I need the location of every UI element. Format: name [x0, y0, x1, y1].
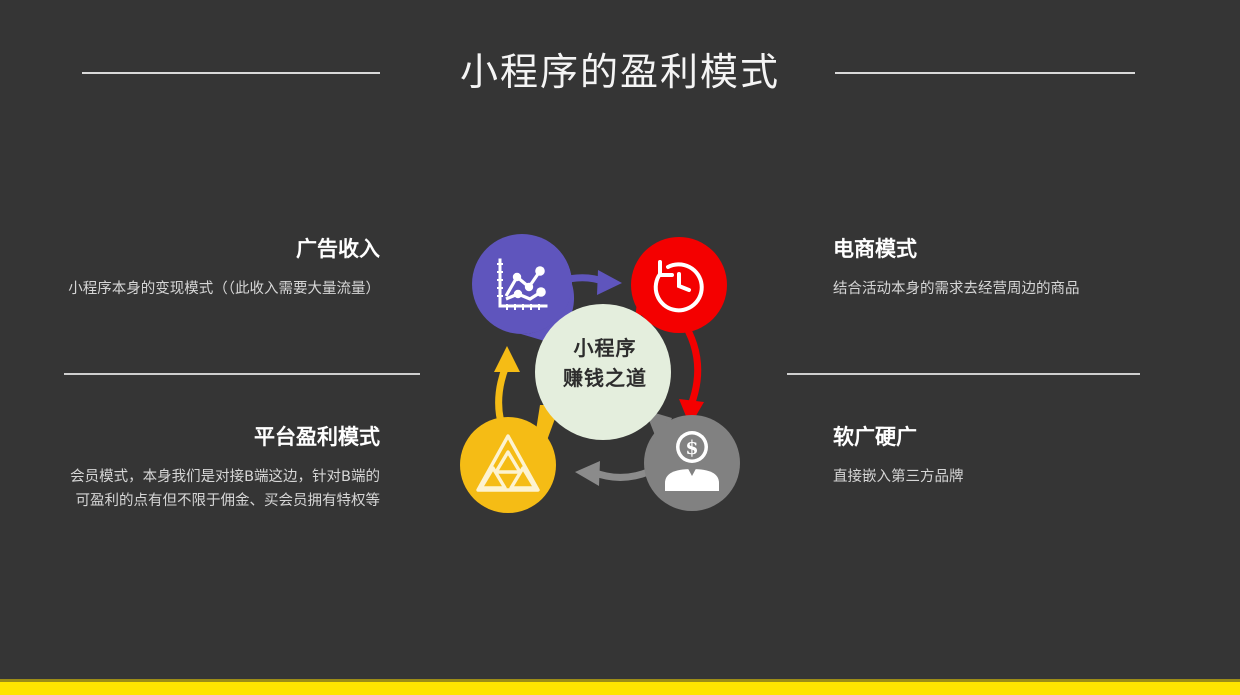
- block-ecommerce: 电商模式 结合活动本身的需求去经营周边的商品: [833, 235, 1163, 301]
- arrow-red: [679, 320, 704, 426]
- block-ecommerce-body: 结合活动本身的需求去经营周边的商品: [833, 277, 1163, 301]
- bubble-platform[interactable]: [460, 405, 560, 513]
- divider-right: [787, 373, 1140, 375]
- block-softad: 软广硬广 直接嵌入第三方品牌: [833, 423, 1163, 489]
- block-softad-heading: 软广硬广: [833, 423, 1163, 451]
- divider-left: [64, 373, 420, 375]
- block-platform-heading: 平台盈利模式: [60, 423, 380, 451]
- center-circle: [535, 304, 671, 440]
- svg-text:$: $: [685, 437, 698, 459]
- block-ecommerce-heading: 电商模式: [833, 235, 1163, 263]
- bottom-accent-bar: [0, 682, 1240, 695]
- block-advertising: 广告收入 小程序本身的变现模式（（此收入需要大量流量）: [60, 235, 380, 301]
- cycle-diagram: $: [430, 200, 800, 550]
- title-row: 小程序的盈利模式: [0, 44, 1240, 102]
- block-softad-body: 直接嵌入第三方品牌: [833, 465, 1163, 489]
- block-advertising-heading: 广告收入: [60, 235, 380, 263]
- title-rule-right: [835, 72, 1135, 74]
- block-advertising-body: 小程序本身的变现模式（（此收入需要大量流量）: [60, 277, 380, 301]
- block-platform: 平台盈利模式 会员模式，本身我们是对接B端这边，针对B端的可盈利的点有但不限于佣…: [60, 423, 380, 513]
- slide-canvas: 小程序的盈利模式 广告收入 小程序本身的变现模式（（此收入需要大量流量） 平台盈…: [0, 0, 1240, 695]
- block-platform-body: 会员模式，本身我们是对接B端这边，针对B端的可盈利的点有但不限于佣金、买会员拥有…: [60, 465, 380, 513]
- bubble-softad[interactable]: $: [644, 410, 740, 511]
